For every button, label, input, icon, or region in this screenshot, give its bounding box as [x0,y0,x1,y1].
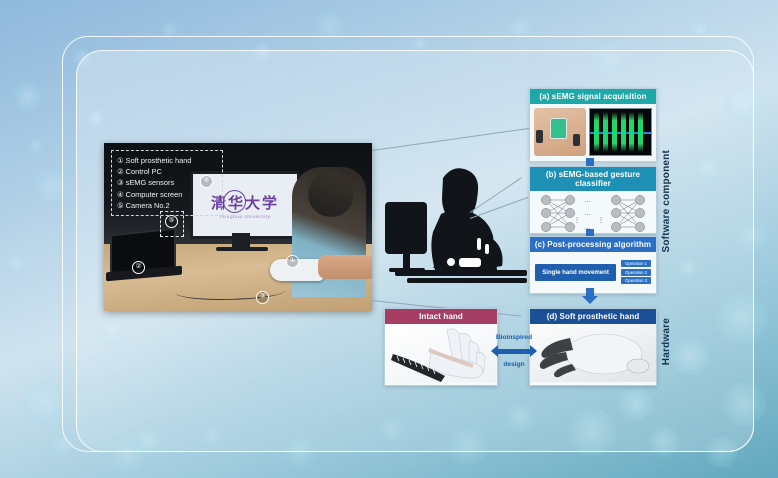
svg-text:...: ... [585,211,590,217]
callout-1: ① [286,255,299,268]
single-hand-movement-box: Single hand movement [535,264,616,281]
bokeh-dot [22,380,66,424]
emg-signal-plot [589,108,652,156]
electrode-band-2 [573,134,580,146]
legend-item-4: ④ Computer screen [117,189,217,200]
bioinspired-label-line1: Bioinspired [482,334,546,341]
monitor-base [216,247,268,251]
panel-a-header: (a) sEMG signal acquisition [530,89,656,104]
operation-item-3: Operation 3 [621,277,651,284]
emg-burst [638,112,643,152]
svg-text:⋮: ⋮ [598,218,604,224]
panel-gesture-classifier: (b) sEMG-based gesture classifier ......… [529,166,657,234]
callout-2: ② [132,261,145,274]
person-head [308,171,354,217]
soft-prosthetic-hand-image [530,324,656,382]
double-headed-arrow-icon [498,349,530,354]
bokeh-dot [14,82,42,110]
emg-burst [629,112,634,152]
callout-3: ③ [256,291,269,304]
software-component-label: Software component [661,150,672,253]
university-seal-icon [223,190,246,213]
emg-burst [603,112,608,152]
lab-photo: 清华大学 Tsinghua University ① Soft prosthet… [104,143,372,311]
callout-4: ④ [200,175,213,188]
semg-sensor-icon [550,118,567,139]
intact-hand-image [385,324,497,382]
bioinspired-design-arrow: Bioinspired design [498,336,530,366]
emg-burst [594,112,599,152]
bioinspired-label-line2: design [482,361,546,368]
arrow-c-to-d [582,288,598,308]
operations-list: Operation 1 Operation 2 Operation 3 [621,260,651,284]
emg-burst [621,112,626,152]
svg-text:⋮: ⋮ [574,218,580,224]
panel-post-processing: (c) Post-processing algorithm Single han… [529,236,657,294]
panel-a-body [530,104,656,160]
panel-semg-acquisition: (a) sEMG signal acquisition [529,88,657,162]
emg-burst [612,112,617,152]
panel-c-body: Single hand movement Operation 1 Operati… [530,252,656,292]
operation-item-2: Operation 2 [621,269,651,276]
panel-c-header: (c) Post-processing algorithm [530,237,656,252]
electrode-band-1 [536,130,543,143]
panel-d-header: (d) Soft prosthetic hand [530,309,656,324]
forearm-sensor-photo [534,108,586,156]
operation-item-1: Operation 1 [621,260,651,267]
panel-intact-header: Intact hand [385,309,497,324]
panel-intact-hand: Intact hand [384,308,498,386]
screen-text-en: Tsinghua University [219,214,270,219]
legend-item-1: ① Soft prosthetic hand [117,155,217,166]
forearm-with-sensors [318,255,372,279]
bokeh-dot [5,251,27,273]
callout-5: ⑤ [165,215,178,228]
hardware-label: Hardware [661,318,672,365]
panel-soft-prosthetic-hand: (d) Soft prosthetic hand [529,308,657,386]
svg-text:...: ... [585,198,590,204]
legend-item-5: ⑤ Camera No.2 [117,200,217,211]
monitor-stand [232,233,250,247]
user-workstation-silhouette [381,162,533,290]
panel-b-header: (b) sEMG-based gesture classifier [530,167,656,191]
bokeh-dot [28,138,44,154]
